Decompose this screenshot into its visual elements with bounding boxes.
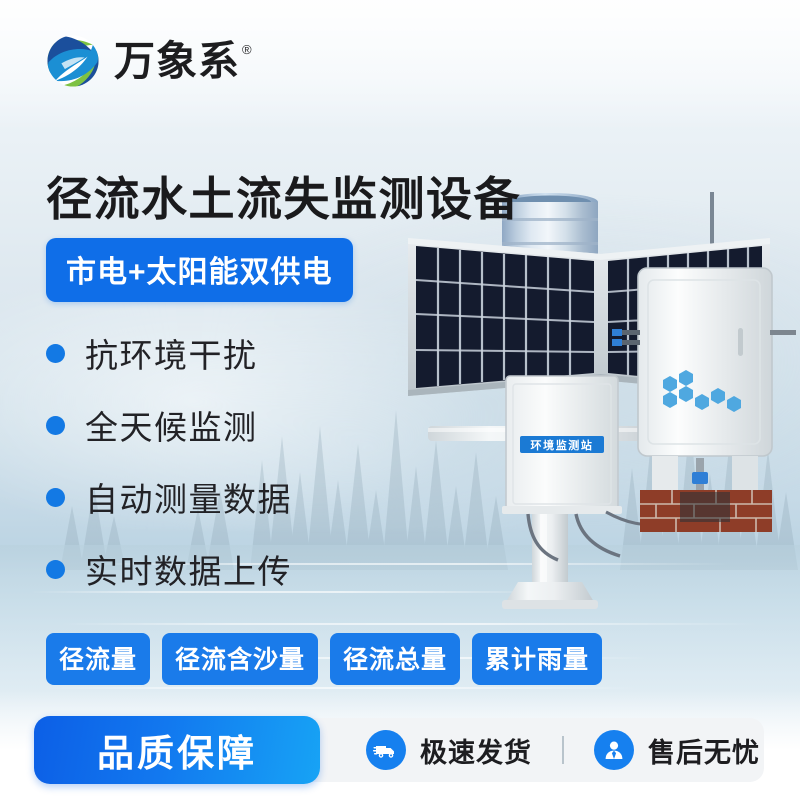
brick-foundation — [640, 490, 772, 532]
power-supply-badge: 市电+太阳能双供电 — [46, 238, 353, 302]
service-label: 售后无忧 — [648, 731, 760, 770]
measurement-tag: 累计雨量 — [472, 633, 602, 685]
quality-guarantee-pill: 品质保障 — [34, 716, 320, 784]
brand-logo: 万象系 ® — [44, 32, 252, 90]
list-item: 抗环境干扰 — [46, 317, 376, 389]
brand-name: 万象系 — [114, 41, 240, 82]
globe-swirl-logo-icon — [44, 32, 102, 90]
product-poster: 环境监测站 — [0, 0, 800, 800]
delivery-truck-icon — [366, 730, 406, 770]
quality-guarantee-label: 品质保障 — [97, 723, 257, 777]
solar-panel-left — [408, 238, 602, 396]
service-guarantee-bar: 品质保障 极速发货 — [36, 718, 764, 782]
feature-label: 实时数据上传 — [85, 545, 292, 593]
service-item-fast-shipping: 极速发货 — [336, 730, 562, 770]
list-item: 自动测量数据 — [46, 461, 376, 533]
service-item-after-sales: 售后无忧 — [564, 730, 790, 770]
measurement-tag: 径流量 — [46, 633, 150, 685]
registered-mark: ® — [242, 43, 252, 56]
list-item: 全天候监测 — [46, 389, 376, 461]
equipment-cabinet — [612, 268, 796, 492]
measurement-tag: 径流总量 — [330, 633, 460, 685]
measurement-tag-list: 径流量 径流含沙量 径流总量 累计雨量 — [46, 633, 602, 685]
bullet-dot-icon — [46, 344, 65, 363]
page-title: 径流水土流失监测设备 — [46, 174, 521, 225]
support-agent-icon — [594, 730, 634, 770]
list-item: 实时数据上传 — [46, 533, 376, 605]
bullet-dot-icon — [46, 560, 65, 579]
bullet-dot-icon — [46, 488, 65, 507]
monitoring-equipment-illustration: 环境监测站 — [380, 180, 800, 630]
station-label-text: 环境监测站 — [531, 438, 594, 452]
service-label: 极速发货 — [420, 731, 532, 770]
measurement-tag: 径流含沙量 — [162, 633, 318, 685]
feature-label: 自动测量数据 — [85, 473, 292, 521]
feature-list: 抗环境干扰 全天候监测 自动测量数据 实时数据上传 — [46, 317, 376, 605]
feature-label: 抗环境干扰 — [85, 329, 258, 377]
feature-label: 全天候监测 — [85, 401, 258, 449]
service-items: 极速发货 售后无忧 — [336, 718, 790, 782]
bullet-dot-icon — [46, 416, 65, 435]
